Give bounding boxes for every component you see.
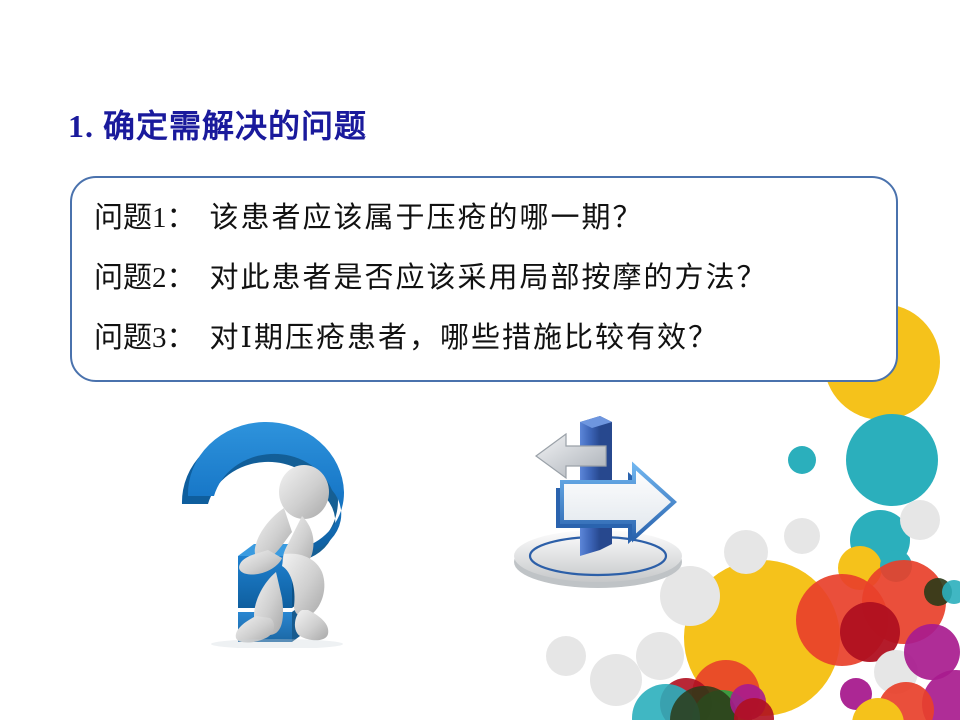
decoration-circle [904,624,960,680]
signpost-arrows-image [494,404,704,594]
decoration-circle [590,654,642,706]
question-line-1: 问题1：该患者应该属于压疮的哪一期？ [94,194,644,236]
decoration-circle [692,690,752,720]
decoration-circle [724,530,768,574]
page-title: 1. 确定需解决的问题 [68,101,367,147]
decoration-circle [660,678,712,720]
decoration-circle [874,650,918,694]
decoration-circle [684,560,840,716]
signpost-svg [494,404,704,594]
decoration-circle [878,682,934,720]
question-1-label: 问题1： [94,202,196,234]
question-3-label: 问题3： [94,322,196,354]
decoration-circle [632,684,700,720]
question-box: 问题1：该患者应该属于压疮的哪一期？ 问题2：对此患者是否应该采用局部按摩的方法… [70,176,898,382]
question-3-text: 对Ⅰ期压疮患者，哪些措施比较有效？ [210,322,719,354]
decoration-circle [922,670,960,720]
question-line-3: 问题3：对Ⅰ期压疮患者，哪些措施比较有效？ [94,314,719,356]
decoration-circle [942,580,960,604]
thinking-man-question-mark-image [172,404,386,648]
question-2-label: 问题2： [94,262,196,294]
decoration-circle [796,574,888,666]
decoration-circle [838,546,882,590]
question-mark-svg [172,404,386,648]
decoration-circle [734,698,774,720]
slide-canvas: 1. 确定需解决的问题 问题1：该患者应该属于压疮的哪一期？ 问题2：对此患者是… [0,0,960,720]
decoration-circle [636,632,684,680]
decoration-circle [670,686,738,720]
floor-shadow [211,639,343,648]
decoration-circle [692,660,760,720]
decoration-circle [730,684,766,720]
decoration-circle [546,636,586,676]
decoration-circle [900,500,940,540]
decoration-circle [840,678,872,710]
decoration-circle [784,518,820,554]
decoration-circle [850,510,910,570]
decoration-circle [862,560,946,644]
question-line-2: 问题2：对此患者是否应该采用局部按摩的方法？ [94,254,768,296]
decoration-circle [924,578,952,606]
question-1-text: 该患者应该属于压疮的哪一期？ [210,202,644,234]
decoration-circle [840,602,900,662]
decoration-circle [880,550,912,582]
decoration-circle [846,414,938,506]
decoration-circle [852,698,904,720]
question-2-text: 对此患者是否应该采用局部按摩的方法？ [210,262,768,294]
decoration-circle [788,446,816,474]
